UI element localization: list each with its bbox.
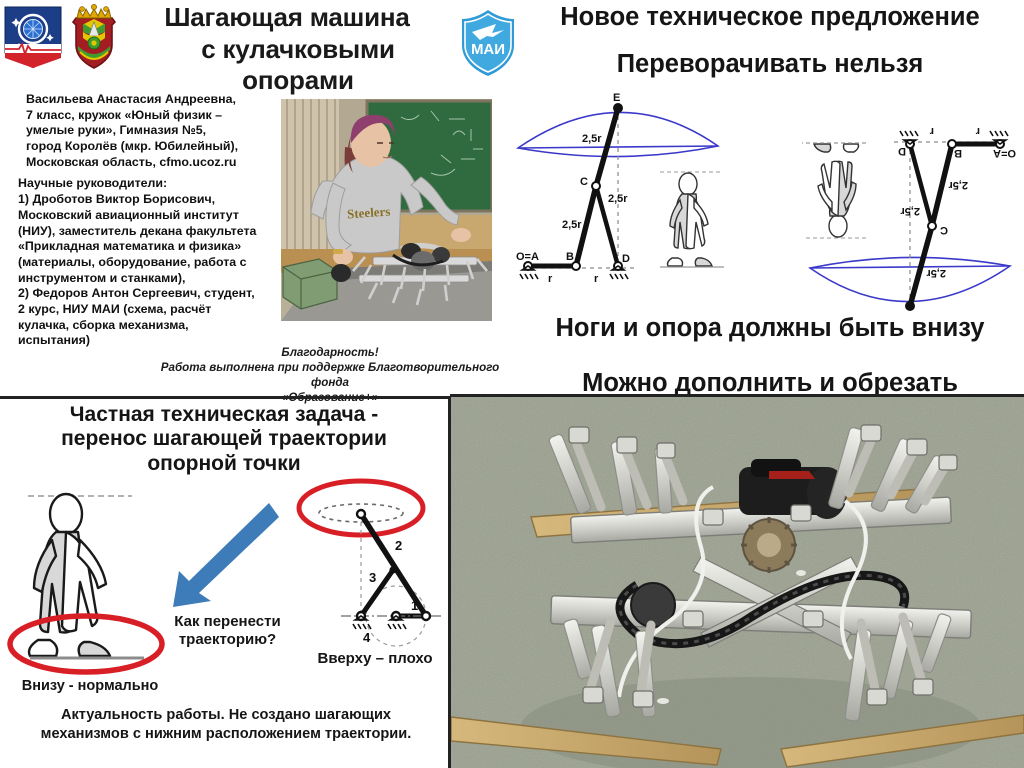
author-line: умелые руки», Гимназия №5, xyxy=(18,123,280,139)
label-len-2-5r-cd-inv: 2,5r xyxy=(900,205,920,217)
caption-bottom-ok: Внизу - нормально xyxy=(0,678,180,694)
author-info-block: Васильева Анастасия Андреевна, 7 класс, … xyxy=(18,92,280,349)
label-OA: O=A xyxy=(516,251,539,263)
acknowledgement-title: Благодарность! xyxy=(150,345,510,360)
label-len-2-5r-cd: 2,5r xyxy=(608,193,628,205)
label-E: E xyxy=(613,92,620,104)
label-E-inv: E xyxy=(908,310,915,312)
question-line: Как перенести xyxy=(160,613,295,631)
supervisor-line: (НИУ), заместитель декана факультета xyxy=(18,224,280,240)
supervisor-line: Московский авиационный институт xyxy=(18,208,280,224)
linkage-number-4: 4 xyxy=(363,630,371,645)
label-len-2-5r-top: 2,5r xyxy=(582,133,602,145)
label-r-2-inv: r xyxy=(929,125,934,137)
linkage-number-1: 1 xyxy=(411,598,418,613)
label-D-inv: D xyxy=(898,145,906,157)
heading-no-flip: Переворачивать нельзя xyxy=(516,50,1024,79)
acknowledgement-line: Работа выполнена при поддержке Благотвор… xyxy=(150,360,510,390)
svg-text:Steelers: Steelers xyxy=(347,204,391,222)
presentation-slide: Шагающая машина с кулачковыми опорами МА… xyxy=(0,0,1024,768)
linkage-number-2: 2 xyxy=(395,538,402,553)
walking-person-diagram xyxy=(4,478,174,678)
transfer-arrow-icon xyxy=(165,495,280,615)
supervisor-line: кулачка, сборка механизма, xyxy=(18,318,280,334)
label-OA-inv: O=A xyxy=(993,147,1016,159)
supervisor-line: инструментом и станками), xyxy=(18,271,280,287)
supervisor-line: 1) Дроботов Виктор Борисович, xyxy=(18,192,280,208)
label-D: D xyxy=(622,253,630,265)
photo-girl-with-model: Steelers xyxy=(281,99,492,321)
label-B-inv: B xyxy=(954,147,962,159)
linkage-diagram-top-trajectory: 1 2 3 4 xyxy=(283,470,448,650)
mai-logo-text: МАИ xyxy=(471,41,505,58)
supervisor-line: 2) Федоров Антон Сергеевич, студент, xyxy=(18,286,280,302)
slide-title-line1: Шагающая машина xyxy=(164,2,409,32)
slide-title: Шагающая машина с кулачковыми опорами xyxy=(128,2,446,97)
korolev-flag-icon xyxy=(4,6,62,68)
label-B: B xyxy=(566,251,574,263)
supervisors-heading: Научные руководители: xyxy=(18,176,280,192)
task-title-line: Частная техническая задача - xyxy=(6,403,442,427)
label-r-1-inv: r xyxy=(975,125,980,137)
task-title-line: перенос шагающей траектории xyxy=(6,427,442,451)
relevance-line: механизмов с нижним расположением траект… xyxy=(14,725,438,744)
supervisor-line: 2 курс, НИУ МАИ (схема, расчёт xyxy=(18,302,280,318)
mai-logo-icon: МАИ xyxy=(452,6,524,78)
question-line: траекторию? xyxy=(160,631,295,649)
supervisor-line: (материалы, оборудование, работа с xyxy=(18,255,280,271)
linkage-number-3: 3 xyxy=(369,570,376,585)
label-C-inv: C xyxy=(940,224,948,236)
author-line: Васильева Анастасия Андреевна, xyxy=(18,92,280,108)
question-transfer-trajectory: Как перенести траекторию? xyxy=(160,613,295,650)
author-line: Московская область, cfmo.ucoz.ru xyxy=(18,155,280,171)
author-line: 7 класс, кружок «Юный физик – xyxy=(18,108,280,124)
label-len-2-5r-bc: 2,5r xyxy=(562,219,582,231)
slide-title-line2: с кулачковыми опорами xyxy=(150,34,446,97)
label-len-2-5r-top-inv: 2,5r xyxy=(926,267,946,279)
kinematic-diagram-inverted: E C D B O=A 2,5r 2,5r 2,5r r r xyxy=(762,86,1024,312)
heading-legs-down: Ноги и опора должны быть внизу xyxy=(516,314,1024,343)
author-line: город Королёв (мкр. Юбилейный), xyxy=(18,139,280,155)
label-C: C xyxy=(580,176,588,188)
label-r-1: r xyxy=(548,273,553,285)
task-title: Частная техническая задача - перенос шаг… xyxy=(6,403,442,476)
coat-of-arms-icon xyxy=(66,2,122,70)
relevance-line: Актуальность работы. Не создано шагающих xyxy=(14,706,438,725)
photo-walking-machine-prototype xyxy=(451,397,1024,768)
label-len-2-5r-bc-inv: 2,5r xyxy=(948,179,968,191)
relevance-text: Актуальность работы. Не создано шагающих… xyxy=(14,706,438,743)
label-r-2: r xyxy=(594,273,599,285)
kinematic-diagram-upright: E C D B O=A 2,5r 2,5r 2,5r r r xyxy=(508,86,760,308)
heading-new-proposal: Новое техническое предложение xyxy=(516,3,1024,32)
supervisor-line: «Прикладная математика и физика» xyxy=(18,239,280,255)
caption-top-bad: Вверху – плохо xyxy=(300,650,450,667)
divider-horizontal-left xyxy=(0,396,450,399)
